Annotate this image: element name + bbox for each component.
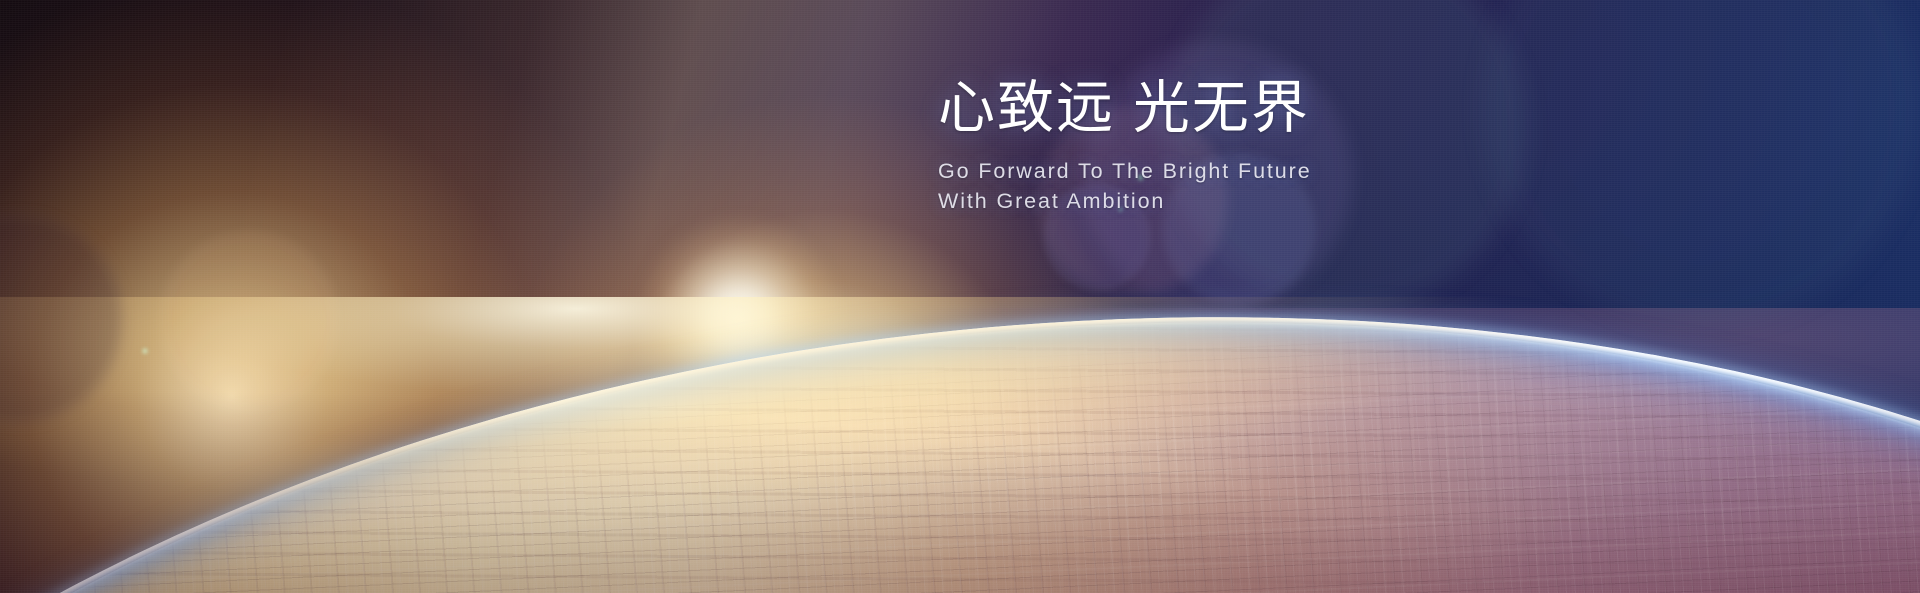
hero-banner: 心致远 光无界 Go Forward To The Bright Future … xyxy=(0,0,1920,593)
banner-copy-block: 心致远 光无界 Go Forward To The Bright Future … xyxy=(938,78,1312,216)
flare-speck xyxy=(141,347,149,355)
atmosphere-warm-wash xyxy=(0,171,1920,593)
banner-subtitle-line-1: Go Forward To The Bright Future xyxy=(938,156,1312,186)
banner-subtitle-line-2: With Great Ambition xyxy=(938,186,1312,216)
bokeh-xlarge-navy xyxy=(1485,0,1917,325)
bokeh-warm-left xyxy=(160,232,338,410)
banner-headline: 心致远 光无界 xyxy=(938,78,1312,140)
bokeh-dark-edge xyxy=(0,214,124,424)
